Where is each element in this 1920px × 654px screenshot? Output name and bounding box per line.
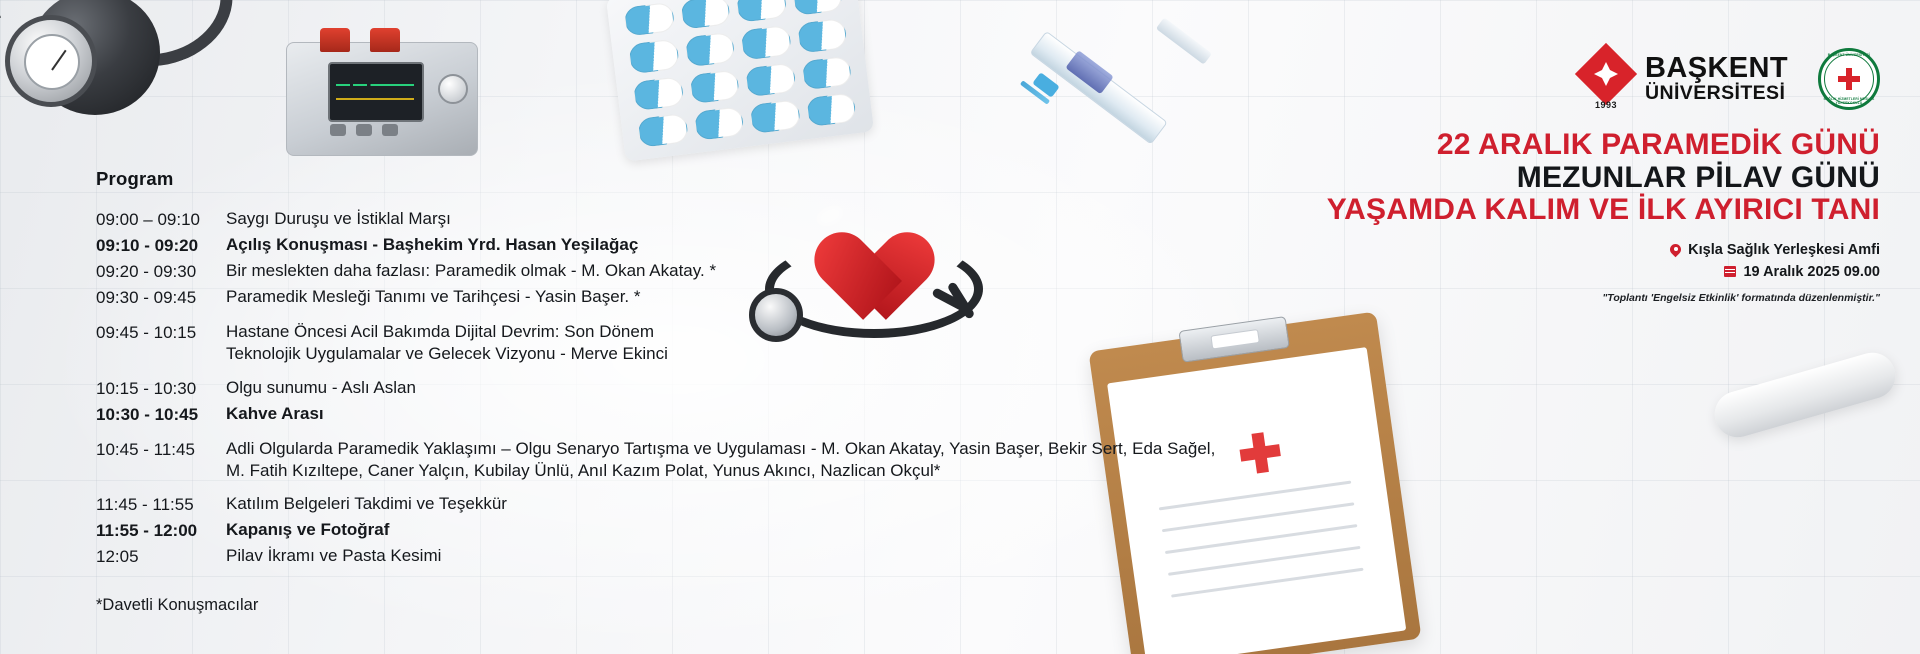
program-row-desc: Kahve Arası: [226, 403, 324, 425]
event-datetime-line: 19 Aralık 2025 09.00: [1260, 264, 1880, 280]
program-row-desc: Paramedik Mesleği Tanımı ve Tarihçesi - …: [226, 286, 640, 308]
program-row-time: 10:15 - 10:30: [96, 377, 226, 400]
program-row-time: 11:55 - 12:00: [96, 519, 226, 542]
syringe-image: [1010, 0, 1260, 134]
baskent-university-logo: 1993 BAŞKENT ÜNİVERSİTESİ: [1579, 50, 1788, 108]
program-row: 12:05 Pilav İkramı ve Pasta Kesimi: [96, 545, 1216, 568]
defibrillator-image: [286, 20, 486, 160]
program-row-time: 12:05: [96, 545, 226, 568]
event-datetime-text: 19 Aralık 2025 09.00: [1743, 264, 1880, 280]
program-row-desc-line2: Teknolojik Uygulamalar ve Gelecek Vizyon…: [226, 343, 668, 365]
program-row-time: 09:30 - 09:45: [96, 286, 226, 309]
program-footnote: *Davetli Konuşmacılar: [96, 596, 1216, 615]
logos-row: 1993 BAŞKENT ÜNİVERSİTESİ BAŞKENT ÜNİVER…: [1260, 46, 1880, 112]
program-row: 09:20 - 09:30 Bir meslekten daha fazlası…: [96, 260, 1216, 283]
program-row-time: 09:45 - 10:15: [96, 321, 226, 344]
event-title-line3: YAŞAMDA KALIM VE İLK AYIRICI TANI: [1260, 195, 1880, 226]
capsule-image: [1712, 338, 1902, 458]
program-row: 11:55 - 12:00 Kapanış ve Fotoğraf: [96, 519, 1216, 542]
program-row-desc: Bir meslekten daha fazlası: Paramedik ol…: [226, 260, 716, 282]
baskent-logo-text: BAŞKENT ÜNİVERSİTESİ: [1645, 54, 1788, 103]
event-banner: Program 09:00 – 09:10 Saygı Duruşu ve İs…: [0, 0, 1920, 654]
program-row-desc-line2: M. Fatih Kızıltepe, Caner Yalçın, Kubila…: [226, 460, 1215, 482]
baskent-logo-year: 1993: [1579, 100, 1633, 110]
program-row-desc: Hastane Öncesi Acil Bakımda Dijital Devr…: [226, 321, 668, 365]
program-row-desc-line1: Adli Olgularda Paramedik Yaklaşımı – Olg…: [226, 439, 1215, 458]
program-row-desc: Katılım Belgeleri Takdimi ve Teşekkür: [226, 493, 507, 515]
faculty-seal-logo: BAŞKENT ÜNİVERSİTESİ SAĞLIK HİZMETLERİ M…: [1818, 48, 1880, 110]
program-row: 11:45 - 11:55 Katılım Belgeleri Takdimi …: [96, 493, 1216, 516]
program-row: 09:45 - 10:15 Hastane Öncesi Acil Bakımd…: [96, 321, 1216, 365]
program-row-time: 09:10 - 09:20: [96, 234, 226, 257]
program-title: Program: [96, 168, 1216, 190]
program-row: 10:15 - 10:30 Olgu sunumu - Aslı Aslan: [96, 377, 1216, 400]
program-row-desc: Açılış Konuşması - Başhekim Yrd. Hasan Y…: [226, 234, 638, 256]
program-rows: 09:00 – 09:10 Saygı Duruşu ve İstiklal M…: [96, 208, 1216, 568]
program-row-desc: Olgu sunumu - Aslı Aslan: [226, 377, 416, 399]
calendar-icon: [1724, 266, 1736, 277]
university-name-line1: BAŞKENT: [1645, 54, 1788, 84]
program-row-desc: Saygı Duruşu ve İstiklal Marşı: [226, 208, 451, 230]
baskent-diamond-icon: 1993: [1579, 50, 1633, 108]
header-panel: 1993 BAŞKENT ÜNİVERSİTESİ BAŞKENT ÜNİVER…: [1260, 46, 1880, 304]
event-title-line1: 22 ARALIK PARAMEDİK GÜNÜ: [1260, 130, 1880, 161]
program-row-desc-line1: Hastane Öncesi Acil Bakımda Dijital Devr…: [226, 322, 654, 341]
event-titles: 22 ARALIK PARAMEDİK GÜNÜ MEZUNLAR PİLAV …: [1260, 130, 1880, 226]
faculty-seal-bottom-text: SAĞLIK HİZMETLERİ MESLEK YÜKSEKOKULU: [1821, 97, 1877, 105]
medical-cross-icon: [1836, 66, 1862, 92]
program-row: 09:30 - 09:45 Paramedik Mesleği Tanımı v…: [96, 286, 1216, 309]
program-row-time: 10:45 - 11:45: [96, 438, 226, 461]
program-row: 09:10 - 09:20 Açılış Konuşması - Başheki…: [96, 234, 1216, 257]
program-row-time: 11:45 - 11:55: [96, 493, 226, 516]
program-row-desc: Adli Olgularda Paramedik Yaklaşımı – Olg…: [226, 438, 1215, 482]
pill-blister-pack-image: [606, 0, 874, 162]
blood-pressure-cuff-image: [0, 0, 230, 190]
program-row-time: 09:00 – 09:10: [96, 208, 226, 231]
event-venue-text: Kışla Sağlık Yerleşkesi Amfi: [1688, 242, 1880, 258]
program-row: 09:00 – 09:10 Saygı Duruşu ve İstiklal M…: [96, 208, 1216, 231]
event-title-line2: MEZUNLAR PİLAV GÜNÜ: [1260, 163, 1880, 194]
program-section: Program 09:00 – 09:10 Saygı Duruşu ve İs…: [96, 168, 1216, 615]
program-row-time: 09:20 - 09:30: [96, 260, 226, 283]
program-row: 10:45 - 11:45 Adli Olgularda Paramedik Y…: [96, 438, 1216, 482]
location-pin-icon: [1670, 244, 1681, 255]
program-row-desc: Kapanış ve Fotoğraf: [226, 519, 389, 541]
program-row-desc: Pilav İkramı ve Pasta Kesimi: [226, 545, 441, 567]
program-row: 10:30 - 10:45 Kahve Arası: [96, 403, 1216, 426]
faculty-seal-top-text: BAŞKENT ÜNİVERSİTESİ: [1821, 53, 1877, 57]
university-name-line2: ÜNİVERSİTESİ: [1645, 84, 1788, 104]
program-row-time: 10:30 - 10:45: [96, 403, 226, 426]
event-meta: Kışla Sağlık Yerleşkesi Amfi 19 Aralık 2…: [1260, 242, 1880, 304]
event-venue-line: Kışla Sağlık Yerleşkesi Amfi: [1260, 242, 1880, 258]
accessibility-note: "Toplantı 'Engelsiz Etkinlik' formatında…: [1260, 292, 1880, 304]
